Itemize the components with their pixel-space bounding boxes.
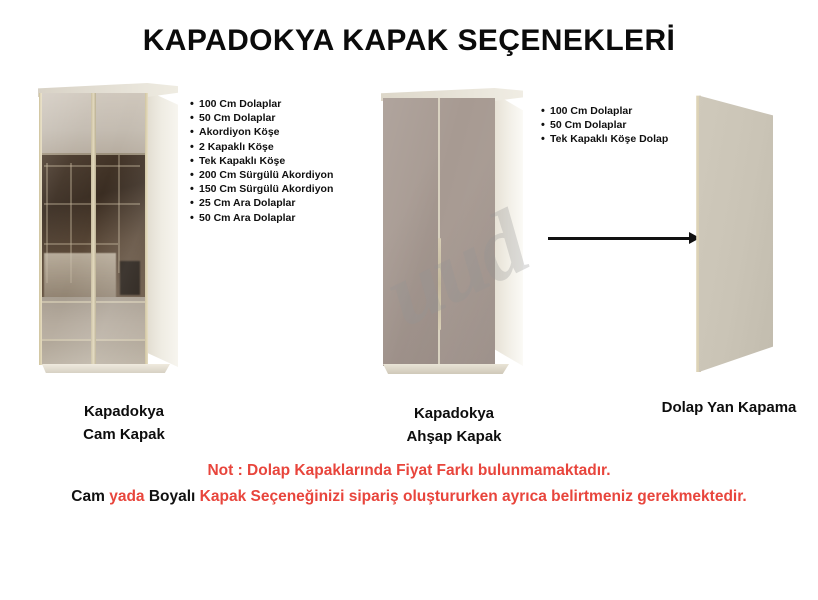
note-word-boyali: Boyalı: [149, 488, 200, 505]
list-item: • 50 Cm Dolaplar: [541, 118, 668, 132]
reflection-bed: [44, 253, 116, 301]
door-handle: [438, 238, 441, 330]
panel-face: [699, 90, 773, 372]
arrow-shaft: [548, 237, 690, 240]
door-frame-right: [145, 93, 148, 365]
caption-line: Cam Kapak: [33, 423, 215, 446]
product-options-poster: KAPADOKYA KAPAK SEÇENEKLERİ: [0, 0, 818, 600]
wardrobe-plinth: [42, 364, 170, 373]
list-item-label: Tek Kapaklı Köşe Dolap: [550, 132, 668, 146]
bullet-icon: •: [190, 154, 199, 168]
bullet-icon: •: [190, 125, 199, 139]
list-item-label: 2 Kapaklı Köşe: [199, 140, 274, 154]
bullet-icon: •: [541, 118, 550, 132]
product-image-wood-wardrobe: [381, 88, 523, 374]
page-title: KAPADOKYA KAPAK SEÇENEKLERİ: [0, 24, 818, 58]
wardrobe-side-panel: [148, 91, 178, 367]
reflection-mullion: [118, 155, 120, 273]
bullet-icon: •: [190, 211, 199, 225]
arrow-right-icon: [548, 232, 700, 244]
wardrobe-plinth: [383, 364, 509, 374]
list-item: • 100 Cm Dolaplar: [541, 104, 668, 118]
list-item: • 100 Cm Dolaplar: [190, 97, 333, 111]
product-image-glass-wardrobe: [38, 83, 178, 375]
list-item-label: 100 Cm Dolaplar: [550, 104, 632, 118]
bullet-icon: •: [190, 168, 199, 182]
caption-line: Ahşap Kapak: [372, 425, 536, 448]
reflection-mullion: [44, 243, 118, 245]
list-item: • Tek Kapaklı Köşe Dolap: [541, 132, 668, 146]
product-image-side-panel: [693, 90, 773, 372]
list-item-label: Tek Kapaklı Köşe: [199, 154, 285, 168]
bullet-icon: •: [190, 97, 199, 111]
wardrobe-side-panel: [495, 94, 523, 366]
list-item-label: 100 Cm Dolaplar: [199, 97, 281, 111]
list-item-label: 25 Cm Ara Dolaplar: [199, 196, 295, 210]
caption-line: Kapadokya: [372, 402, 536, 425]
list-item-label: 50 Cm Dolaplar: [199, 111, 275, 125]
door-frame-left: [39, 93, 42, 365]
note-word-yada: yada: [109, 488, 149, 505]
bullet-icon: •: [190, 182, 199, 196]
list-item: • 150 Cm Sürgülü Akordiyon: [190, 182, 333, 196]
caption-glass-wardrobe: Kapadokya Cam Kapak: [33, 400, 215, 446]
note-word-cam: Cam: [71, 488, 109, 505]
note-line-2: Cam yada Boyalı Kapak Seçeneğinizi sipar…: [0, 484, 818, 510]
caption-wood-wardrobe: Kapadokya Ahşap Kapak: [372, 402, 536, 448]
note-block: Not : Dolap Kapaklarında Fiyat Farkı bul…: [0, 458, 818, 510]
options-list-glass: • 100 Cm Dolaplar • 50 Cm Dolaplar • Ako…: [190, 97, 333, 225]
list-item-label: Akordiyon Köşe: [199, 125, 280, 139]
list-item: • 200 Cm Sürgülü Akordiyon: [190, 168, 333, 182]
bullet-icon: •: [190, 111, 199, 125]
bullet-icon: •: [541, 132, 550, 146]
list-item: • 50 Cm Dolaplar: [190, 111, 333, 125]
list-item: • 25 Cm Ara Dolaplar: [190, 196, 333, 210]
list-item: • Tek Kapaklı Köşe: [190, 154, 333, 168]
bullet-icon: •: [190, 196, 199, 210]
list-item: • Akordiyon Köşe: [190, 125, 333, 139]
wood-door-right: [440, 98, 495, 366]
list-item-label: 200 Cm Sürgülü Akordiyon: [199, 168, 333, 182]
caption-side-panel: Dolap Yan Kapama: [640, 396, 818, 419]
bullet-icon: •: [541, 104, 550, 118]
list-item-label: 50 Cm Dolaplar: [550, 118, 626, 132]
door-center-stile: [91, 93, 96, 365]
reflection-object: [120, 261, 140, 295]
options-list-wood: • 100 Cm Dolaplar • 50 Cm Dolaplar • Tek…: [541, 104, 668, 147]
list-item-label: 150 Cm Sürgülü Akordiyon: [199, 182, 333, 196]
note-rest: Kapak Seçeneğinizi sipariş oluştururken …: [200, 488, 747, 505]
list-item-label: 50 Cm Ara Dolaplar: [199, 211, 295, 225]
wood-door-left: [383, 98, 438, 366]
caption-line: Dolap Yan Kapama: [640, 396, 818, 419]
list-item: • 2 Kapaklı Köşe: [190, 140, 333, 154]
list-item: • 50 Cm Ara Dolaplar: [190, 211, 333, 225]
bullet-icon: •: [190, 140, 199, 154]
caption-line: Kapadokya: [33, 400, 215, 423]
note-line-1: Not : Dolap Kapaklarında Fiyat Farkı bul…: [0, 458, 818, 484]
